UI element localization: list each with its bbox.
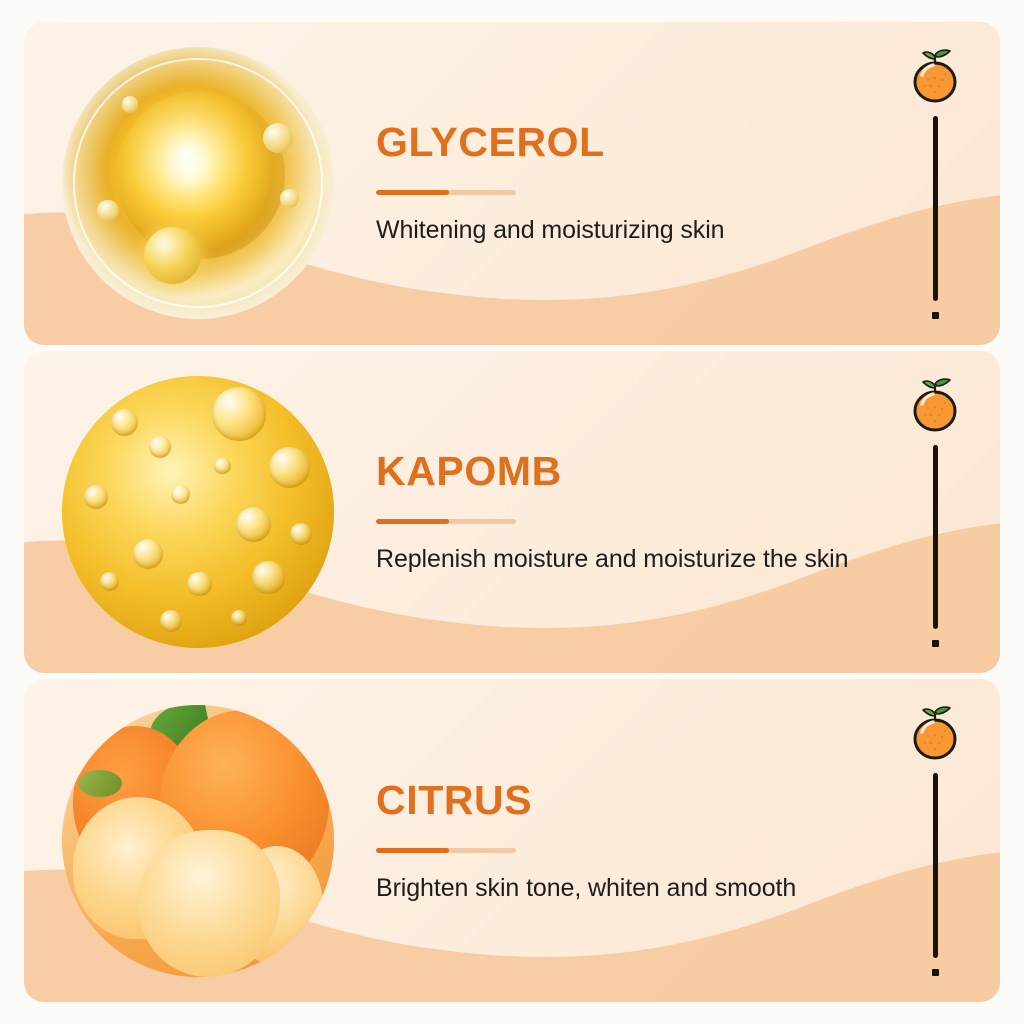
marker-dot bbox=[932, 969, 939, 976]
marker-line bbox=[933, 445, 938, 630]
ingredient-description: Replenish moisture and moisturize the sk… bbox=[376, 545, 976, 574]
orange-fruit-icon bbox=[909, 48, 961, 104]
accent-rule bbox=[376, 190, 516, 195]
panel-marker bbox=[904, 377, 966, 648]
panel-marker bbox=[904, 705, 966, 976]
panel-marker bbox=[904, 48, 966, 319]
ingredient-image-kapomb bbox=[62, 376, 334, 648]
ingredient-title: KAPOMB bbox=[376, 450, 976, 493]
ingredient-panel-kapomb[interactable]: KAPOMB Replenish moisture and moisturize… bbox=[24, 351, 1000, 674]
marker-dot bbox=[932, 312, 939, 319]
panel-text-block: KAPOMB Replenish moisture and moisturize… bbox=[376, 450, 976, 574]
ingredient-panel-glycerol[interactable]: GLYCEROL Whitening and moisturizing skin bbox=[24, 22, 1000, 345]
ingredient-panel-citrus[interactable]: CITRUS Brighten skin tone, whiten and sm… bbox=[24, 679, 1000, 1002]
ingredient-title: GLYCEROL bbox=[376, 121, 976, 164]
ingredient-panels-board: GLYCEROL Whitening and moisturizing skin bbox=[0, 0, 1024, 1024]
ingredient-description: Whitening and moisturizing skin bbox=[376, 216, 976, 245]
ingredient-title: CITRUS bbox=[376, 779, 976, 822]
marker-dot bbox=[932, 640, 939, 647]
ingredient-image-glycerol bbox=[62, 47, 334, 319]
marker-line bbox=[933, 116, 938, 301]
accent-rule bbox=[376, 519, 516, 524]
orange-fruit-icon bbox=[909, 705, 961, 761]
accent-rule bbox=[376, 848, 516, 853]
panel-text-block: GLYCEROL Whitening and moisturizing skin bbox=[376, 121, 976, 245]
marker-line bbox=[933, 773, 938, 958]
orange-fruit-icon bbox=[909, 377, 961, 433]
ingredient-image-citrus bbox=[62, 705, 334, 977]
panel-text-block: CITRUS Brighten skin tone, whiten and sm… bbox=[376, 779, 976, 903]
ingredient-description: Brighten skin tone, whiten and smooth bbox=[376, 874, 976, 903]
